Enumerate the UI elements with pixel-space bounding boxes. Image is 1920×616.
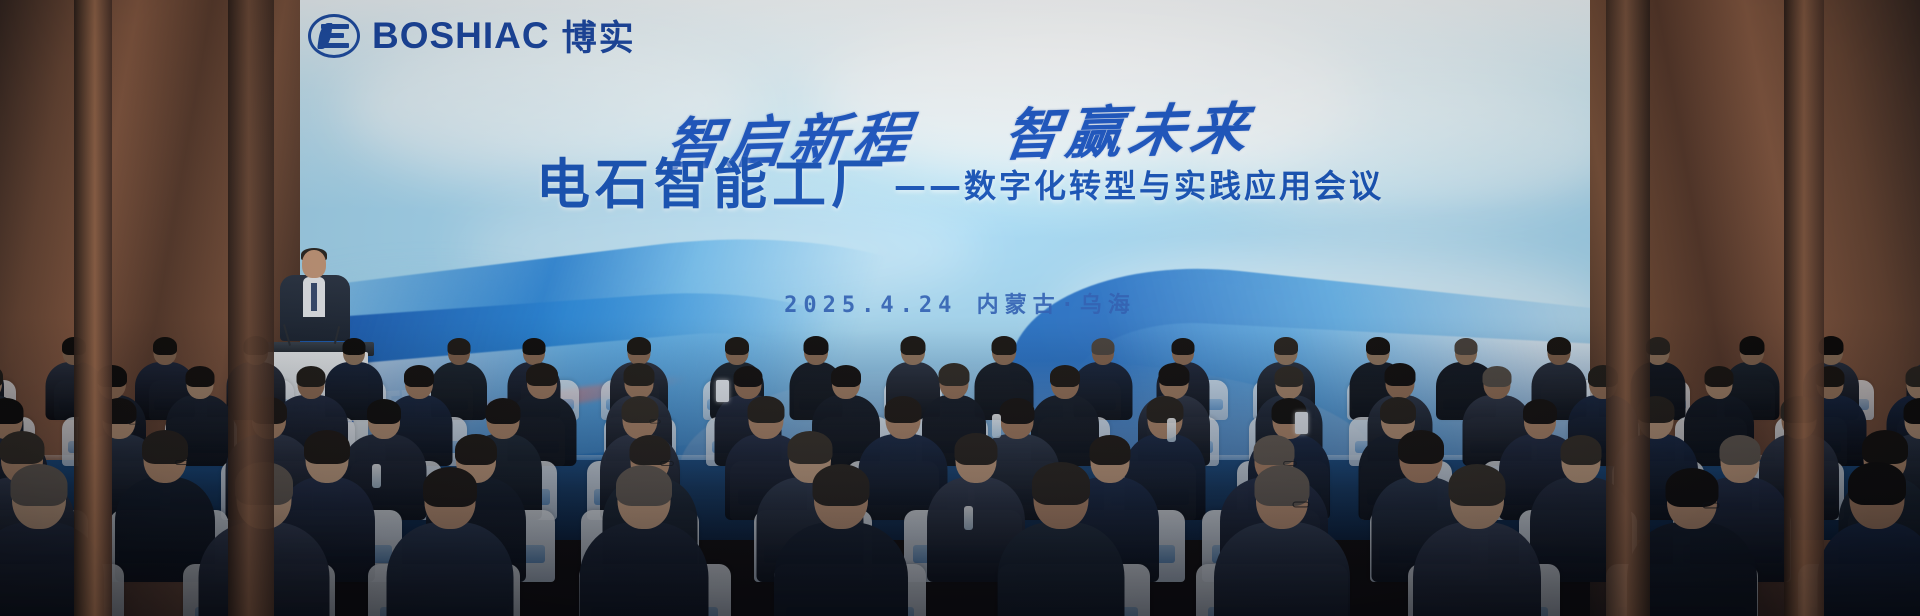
audience-member: [1818, 466, 1920, 616]
logo-wordmark-cn: 博实: [562, 10, 636, 61]
water-bottle: [992, 414, 1001, 438]
audience-phone: [1295, 412, 1308, 434]
audience-member: [1413, 466, 1541, 616]
eyeglasses: [1293, 501, 1310, 507]
water-bottle: [1167, 418, 1176, 442]
audience-member: [579, 466, 708, 616]
audience-member: [386, 466, 513, 616]
audience-phone: [716, 380, 729, 402]
audience-member: [997, 466, 1124, 616]
backdrop-sub-title: ——数字化转型与实践应用会议: [894, 161, 1384, 212]
hall-pillar: [74, 0, 112, 616]
boshiac-logo: BOSHIAC 博实: [300, 8, 644, 63]
water-bottle: [964, 506, 973, 530]
hall-pillar: [1606, 0, 1650, 616]
water-bottle: [372, 464, 381, 488]
hall-pillar: [228, 0, 274, 616]
boshiac-emblem-icon: [308, 14, 360, 58]
hall-pillar: [1784, 0, 1824, 616]
logo-wordmark-en: BOSHIAC: [372, 15, 550, 57]
eyeglasses: [1703, 502, 1720, 508]
audience-member: [774, 466, 908, 616]
backdrop-main-title: 电石智能工厂: [536, 158, 890, 212]
audience-member: [1214, 466, 1350, 616]
conference-photo: 智 BOSHIAC 博实 智启新程 智赢未来 电石智能工厂 ——数字化转型与实践…: [0, 0, 1920, 616]
